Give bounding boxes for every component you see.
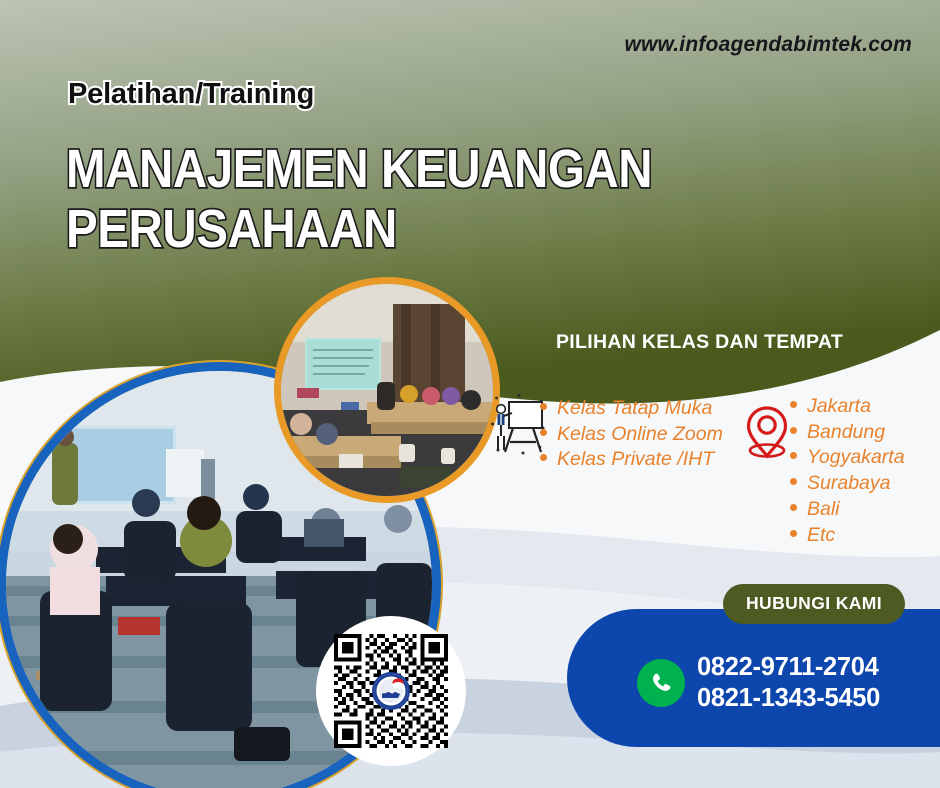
title-line-2: PERUSAHAAN bbox=[66, 203, 612, 255]
city-label: Yogyakarta bbox=[807, 445, 905, 471]
city-options-list: Jakarta Bandung Yogyakarta Surabaya Bali… bbox=[790, 394, 905, 548]
bullet-dot bbox=[790, 478, 797, 485]
phone-handset-icon bbox=[637, 659, 685, 707]
qr-code[interactable] bbox=[316, 616, 466, 766]
list-item: Bandung bbox=[790, 420, 905, 446]
seminar-room-photo bbox=[281, 284, 493, 496]
bullet-dot bbox=[790, 401, 797, 408]
phone-number-2[interactable]: 0821-1343-5450 bbox=[697, 683, 880, 714]
list-item: Yogyakarta bbox=[790, 445, 905, 471]
bullet-dot bbox=[540, 429, 547, 436]
kicker-label: Pelatihan/Training bbox=[68, 78, 314, 111]
city-label: Bandung bbox=[807, 420, 885, 446]
class-option-label: Kelas Tatap Muka bbox=[557, 396, 712, 422]
class-options-list: Kelas Tatap Muka Kelas Online Zoom Kelas… bbox=[540, 396, 723, 473]
class-option-label: Kelas Online Zoom bbox=[557, 422, 723, 448]
page-title: MANAJEMEN KEUANGAN PERUSAHAAN bbox=[66, 143, 686, 264]
handshake-logo-icon bbox=[372, 672, 410, 710]
bullet-dot bbox=[790, 452, 797, 459]
city-label: Etc bbox=[807, 523, 835, 549]
bullet-dot bbox=[790, 530, 797, 537]
location-pin-icon bbox=[742, 404, 792, 467]
city-label: Bali bbox=[807, 497, 840, 523]
bullet-dot bbox=[790, 427, 797, 434]
list-item: Jakarta bbox=[790, 394, 905, 420]
list-item: Kelas Private /IHT bbox=[540, 447, 723, 473]
website-url[interactable]: www.infoagendabimtek.com bbox=[624, 33, 912, 57]
phone-numbers[interactable]: 0822-9711-2704 0821-1343-5450 bbox=[697, 652, 880, 714]
class-option-label: Kelas Private /IHT bbox=[557, 447, 714, 473]
list-item: Kelas Online Zoom bbox=[540, 422, 723, 448]
presenter-easel-icon bbox=[489, 392, 547, 463]
phone-number-1[interactable]: 0822-9711-2704 bbox=[697, 652, 880, 683]
title-line-1: MANAJEMEN KEUANGAN bbox=[66, 143, 612, 195]
bullet-dot bbox=[540, 403, 547, 410]
city-label: Surabaya bbox=[807, 471, 890, 497]
hubungi-kami-badge[interactable]: HUBUNGI KAMI bbox=[723, 584, 905, 624]
list-item: Bali bbox=[790, 497, 905, 523]
bullet-dot bbox=[790, 504, 797, 511]
list-item: Etc bbox=[790, 523, 905, 549]
poster-canvas: www.infoagendabimtek.com Pelatihan/Train… bbox=[0, 0, 940, 788]
city-label: Jakarta bbox=[807, 394, 871, 420]
list-item: Surabaya bbox=[790, 471, 905, 497]
bullet-dot bbox=[540, 454, 547, 461]
section-heading: PILIHAN KELAS DAN TEMPAT bbox=[556, 331, 843, 354]
list-item: Kelas Tatap Muka bbox=[540, 396, 723, 422]
